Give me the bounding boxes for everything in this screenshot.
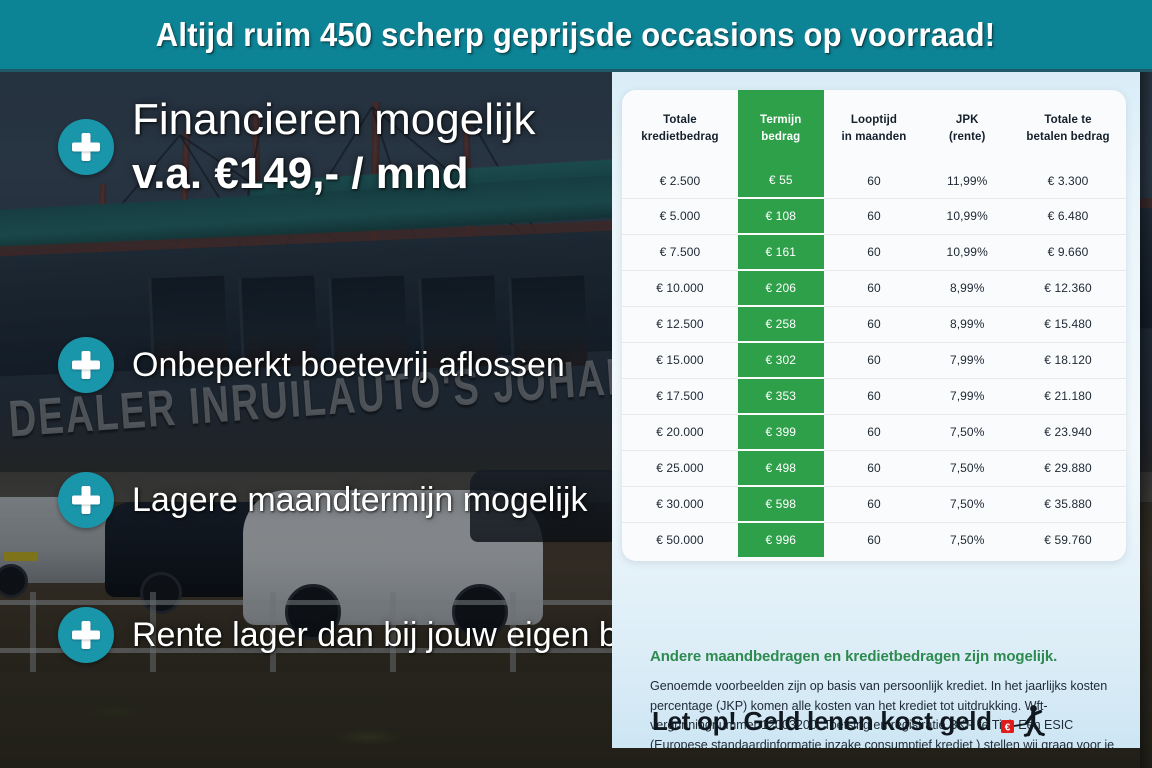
table-row: € 15.000€ 302607,99%€ 18.120: [622, 342, 1126, 378]
svg-text:€: €: [1004, 722, 1010, 733]
table-cell: 7,99%: [924, 378, 1010, 414]
table-row: € 25.000€ 498607,50%€ 29.880: [622, 450, 1126, 486]
table-cell: € 399: [738, 414, 824, 450]
table-cell: € 498: [738, 450, 824, 486]
table-cell: 7,50%: [924, 414, 1010, 450]
table-cell: € 15.480: [1010, 306, 1126, 342]
table-cell: € 55: [738, 163, 824, 198]
table-cell: € 108: [738, 198, 824, 234]
table-cell: € 17.500: [622, 378, 738, 414]
table-cell: € 6.480: [1010, 198, 1126, 234]
table-row: € 17.500€ 353607,99%€ 21.180: [622, 378, 1126, 414]
benefit-item-financing: Financieren mogelijk v.a. €149,- / mnd: [58, 94, 604, 200]
benefit-label: Rente lager dan bij jouw eigen bank: [132, 615, 673, 655]
table-cell: 60: [824, 450, 925, 486]
table-cell: 7,50%: [924, 486, 1010, 522]
column-header-2: Looptijdin maanden: [824, 90, 925, 163]
column-header-line: bedrag: [742, 129, 820, 146]
table-cell: € 59.760: [1010, 522, 1126, 557]
table-cell: 60: [824, 198, 925, 234]
table-cell: € 21.180: [1010, 378, 1126, 414]
money-warning-icon: €: [1000, 704, 1046, 738]
table-row: € 20.000€ 399607,50%€ 23.940: [622, 414, 1126, 450]
table-cell: 8,99%: [924, 270, 1010, 306]
table-row: € 30.000€ 598607,50%€ 35.880: [622, 486, 1126, 522]
benefit-label-line2: v.a. €149,- / mnd: [132, 148, 536, 200]
table-cell: 60: [824, 378, 925, 414]
table-cell: 60: [824, 486, 925, 522]
table-row: € 10.000€ 206608,99%€ 12.360: [622, 270, 1126, 306]
table-cell: € 29.880: [1010, 450, 1126, 486]
table-cell: € 12.500: [622, 306, 738, 342]
headline-banner: Altijd ruim 450 scherp geprijsde occasio…: [0, 0, 1152, 72]
table-cell: 60: [824, 414, 925, 450]
table-cell: € 353: [738, 378, 824, 414]
table-header-row: TotalekredietbedragTermijnbedragLooptijd…: [622, 90, 1126, 163]
table-cell: 60: [824, 342, 925, 378]
benefit-label: Onbeperkt boetevrij aflossen: [132, 345, 565, 385]
table-cell: € 206: [738, 270, 824, 306]
table-cell: € 35.880: [1010, 486, 1126, 522]
table-cell: € 598: [738, 486, 824, 522]
disclaimer-heading: Andere maandbedragen en kredietbedragen …: [650, 648, 1120, 665]
table-cell: 7,99%: [924, 342, 1010, 378]
plus-circle-icon: [58, 607, 114, 663]
table-cell: € 18.120: [1010, 342, 1126, 378]
table-cell: € 9.660: [1010, 234, 1126, 270]
table-cell: 7,50%: [924, 522, 1010, 557]
table-cell: € 23.940: [1010, 414, 1126, 450]
column-header-line: kredietbedrag: [626, 129, 734, 146]
table-cell: € 2.500: [622, 163, 738, 198]
column-header-line: (rente): [928, 129, 1006, 146]
table-cell: € 258: [738, 306, 824, 342]
column-header-3: JPK(rente): [924, 90, 1010, 163]
table-cell: € 7.500: [622, 234, 738, 270]
column-header-line: Termijn: [742, 112, 820, 129]
column-header-line: in maanden: [828, 129, 921, 146]
benefit-label: Lagere maandtermijn mogelijk: [132, 480, 587, 520]
table-cell: € 50.000: [622, 522, 738, 557]
table-cell: 60: [824, 163, 925, 198]
rate-table-head: TotalekredietbedragTermijnbedragLooptijd…: [622, 90, 1126, 163]
table-row: € 5.000€ 1086010,99%€ 6.480: [622, 198, 1126, 234]
column-header-line: Totale te: [1014, 112, 1122, 129]
rate-table: TotalekredietbedragTermijnbedragLooptijd…: [622, 90, 1126, 557]
plus-circle-icon: [58, 337, 114, 393]
table-cell: € 30.000: [622, 486, 738, 522]
benefit-item-lower-interest: Rente lager dan bij jouw eigen bank: [58, 607, 604, 663]
column-header-1: Termijnbedrag: [738, 90, 824, 163]
table-cell: € 161: [738, 234, 824, 270]
benefit-item-lower-monthly: Lagere maandtermijn mogelijk: [58, 472, 604, 528]
plus-circle-icon: [58, 119, 114, 175]
table-cell: 8,99%: [924, 306, 1010, 342]
column-header-0: Totalekredietbedrag: [622, 90, 738, 163]
table-row: € 7.500€ 1616010,99%€ 9.660: [622, 234, 1126, 270]
column-header-line: betalen bedrag: [1014, 129, 1122, 146]
headline-text: Altijd ruim 450 scherp geprijsde occasio…: [156, 16, 996, 54]
table-cell: € 5.000: [622, 198, 738, 234]
table-cell: € 25.000: [622, 450, 738, 486]
table-cell: 60: [824, 270, 925, 306]
rate-table-body: € 2.500€ 556011,99%€ 3.300€ 5.000€ 10860…: [622, 163, 1126, 557]
table-cell: € 302: [738, 342, 824, 378]
table-cell: 60: [824, 234, 925, 270]
table-cell: 11,99%: [924, 163, 1010, 198]
table-cell: € 15.000: [622, 342, 738, 378]
table-cell: 10,99%: [924, 234, 1010, 270]
table-row: € 12.500€ 258608,99%€ 15.480: [622, 306, 1126, 342]
benefit-text-stack: Financieren mogelijk v.a. €149,- / mnd: [132, 94, 536, 200]
table-cell: € 996: [738, 522, 824, 557]
table-cell: € 12.360: [1010, 270, 1126, 306]
panel-edge-shadow: [1140, 72, 1152, 768]
column-header-line: Totale: [626, 112, 734, 129]
benefit-item-early-repayment: Onbeperkt boetevrij aflossen: [58, 337, 604, 393]
credit-warning-bar: Let op! Geld lenen kost geld €: [612, 694, 1140, 748]
column-header-line: JPK: [928, 112, 1006, 129]
table-cell: € 3.300: [1010, 163, 1126, 198]
benefit-label-line1: Financieren mogelijk: [132, 94, 536, 146]
advertisement-banner: DEALER INRUILAUTO'S JOHAN MEURE ALTIJD 4…: [0, 0, 1152, 768]
table-cell: € 20.000: [622, 414, 738, 450]
table-cell: € 10.000: [622, 270, 738, 306]
finance-info-panel: TotalekredietbedragTermijnbedragLooptijd…: [612, 72, 1140, 748]
column-header-line: Looptijd: [828, 112, 921, 129]
benefits-list: Financieren mogelijk v.a. €149,- / mnd O…: [0, 72, 612, 768]
rate-table-card: TotalekredietbedragTermijnbedragLooptijd…: [622, 90, 1126, 561]
credit-warning-text: Let op! Geld lenen kost geld: [652, 706, 992, 737]
table-row: € 50.000€ 996607,50%€ 59.760: [622, 522, 1126, 557]
plus-circle-icon: [58, 472, 114, 528]
table-cell: 10,99%: [924, 198, 1010, 234]
table-cell: 7,50%: [924, 450, 1010, 486]
table-row: € 2.500€ 556011,99%€ 3.300: [622, 163, 1126, 198]
column-header-4: Totale tebetalen bedrag: [1010, 90, 1126, 163]
table-cell: 60: [824, 306, 925, 342]
table-cell: 60: [824, 522, 925, 557]
